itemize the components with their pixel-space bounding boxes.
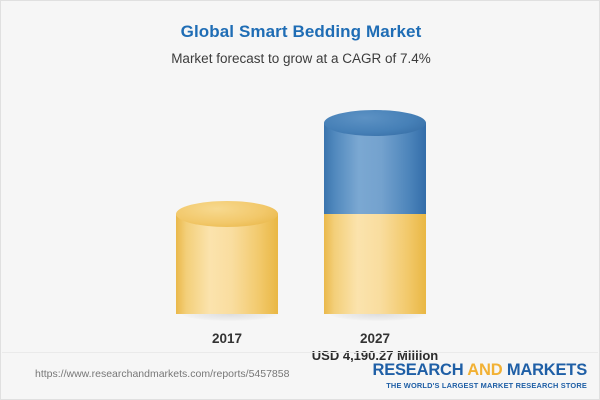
- footer: https://www.researchandmarkets.com/repor…: [1, 353, 600, 399]
- cylinder-bar-2017[interactable]: [176, 214, 278, 314]
- chart-subtitle: Market forecast to grow at a CAGR of 7.4…: [1, 42, 600, 67]
- cylinder-bar-2027[interactable]: [324, 123, 426, 314]
- category-label-2017: 2017: [141, 331, 313, 347]
- logo-word-and-text: AND: [467, 361, 502, 379]
- cylinder-body: [324, 123, 426, 214]
- logo-tagline: THE WORLD'S LARGEST MARKET RESEARCH STOR…: [372, 381, 587, 391]
- logo-word-research: RESEARCH: [372, 361, 463, 379]
- report-url[interactable]: https://www.researchandmarkets.com/repor…: [35, 368, 289, 381]
- cylinder-top-ellipse: [324, 110, 426, 136]
- cylinder-body: [176, 214, 278, 314]
- chart-title: Global Smart Bedding Market: [1, 1, 600, 42]
- logo-wordmark: RESEARCH AND MARKETS: [372, 361, 587, 380]
- cylinder-segment-base-2027: [324, 214, 426, 314]
- category-label-2027: 2027: [289, 331, 461, 347]
- research-and-markets-logo[interactable]: RESEARCH AND MARKETS THE WORLD'S LARGEST…: [372, 361, 587, 391]
- chart-header: Global Smart Bedding Market Market forec…: [1, 1, 600, 67]
- cylinder-body: [324, 214, 426, 314]
- logo-word-markets: MARKETS: [507, 361, 587, 379]
- cylinder-segment-growth-2027: [324, 123, 426, 214]
- cylinder-segment-base-2017: [176, 214, 278, 314]
- cylinder-top-ellipse: [176, 201, 278, 227]
- chart-plot-area: USD 2,056.38 Million 2017 USD 4,190.27 M…: [1, 89, 600, 347]
- market-forecast-infographic: Global Smart Bedding Market Market forec…: [0, 0, 600, 400]
